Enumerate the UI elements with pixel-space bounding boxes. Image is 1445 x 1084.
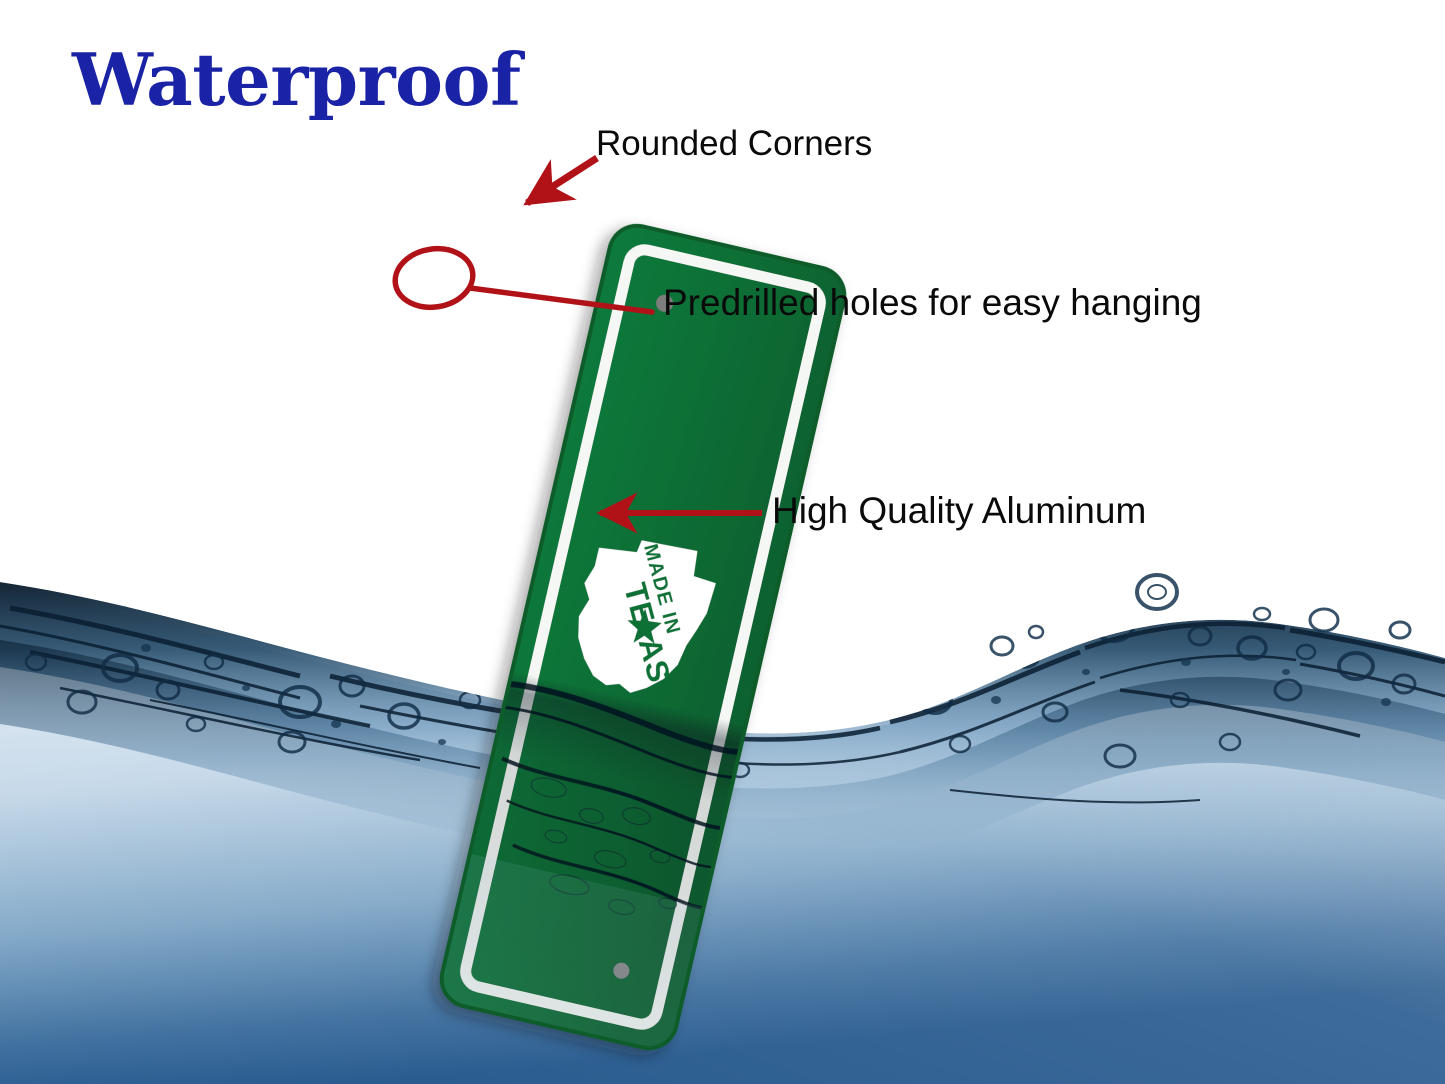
callout-label-predrilled-holes: Predrilled holes for easy hanging: [663, 284, 1202, 321]
hole-leader-line: [470, 288, 652, 312]
infographic-canvas: MADE IN TE AS: [0, 0, 1445, 1084]
hole-highlight-circle: [391, 243, 477, 312]
rounded-corners-marker: [527, 158, 597, 203]
predrilled-holes-marker: [391, 243, 652, 312]
callout-label-high-quality-aluminum: High Quality Aluminum: [772, 492, 1146, 529]
callout-label-rounded-corners: Rounded Corners: [596, 126, 872, 161]
